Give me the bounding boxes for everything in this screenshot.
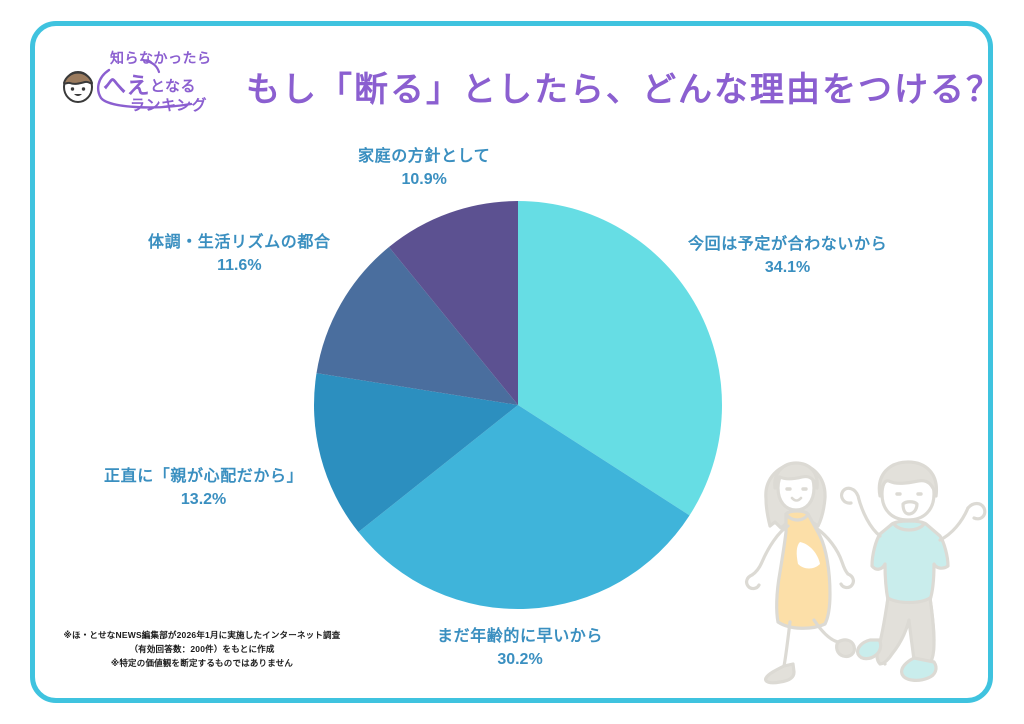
pie-label-2: 正直に「親が心配だから」 13.2% xyxy=(104,466,303,510)
pie-label-3-value: 11.6% xyxy=(148,255,331,276)
pie-chart-svg xyxy=(313,200,723,610)
pie-label-0: 今回は予定が合わないから 34.1% xyxy=(688,234,887,278)
pie-label-3-name: 体調・生活リズムの都合 xyxy=(148,232,331,253)
logo-line-2-small: となる xyxy=(150,78,196,95)
two-kids-jumping-illustration xyxy=(742,444,992,694)
pie-label-2-value: 13.2% xyxy=(104,489,303,510)
logo-line-3: ランキング xyxy=(130,94,207,115)
footnote-line-2: （有効回答数：200件）をもとに作成 xyxy=(52,642,352,656)
footnote: ※ほ・とせなNEWS編集部が2026年1月に実施したインターネット調査 （有効回… xyxy=(52,628,352,670)
pie-label-3: 体調・生活リズムの都合 11.6% xyxy=(148,232,331,276)
pie-label-0-name: 今回は予定が合わないから xyxy=(688,234,887,255)
pie-label-4: 家庭の方針として 10.9% xyxy=(358,146,490,190)
pie-label-1: まだ年齢的に早いから 30.2% xyxy=(437,626,603,670)
pie-label-2-name: 正直に「親が心配だから」 xyxy=(104,466,303,487)
page-title: もし「断る」としたら、どんな理由をつける？ xyxy=(246,62,966,111)
pie-label-4-name: 家庭の方針として xyxy=(358,146,490,167)
pie-label-0-value: 34.1% xyxy=(688,257,887,278)
footnote-line-1: ※ほ・とせなNEWS編集部が2026年1月に実施したインターネット調査 xyxy=(52,628,352,642)
pie-chart xyxy=(313,200,723,610)
brand-logo[interactable]: 知らなかったら へえとなる ランキング xyxy=(55,48,240,116)
infographic-canvas: 知らなかったら へえとなる ランキング もし「断る」としたら、どんな理由をつける… xyxy=(0,0,1024,724)
pie-label-1-name: まだ年齢的に早いから xyxy=(437,626,603,647)
logo-line-1: 知らなかったら xyxy=(110,48,212,68)
logo-wordmark: 知らなかったら へえとなる ランキング xyxy=(101,48,241,116)
pie-label-4-value: 10.9% xyxy=(358,169,490,190)
pie-label-1-value: 30.2% xyxy=(437,649,603,670)
footnote-line-3: ※特定の価値観を断定するものではありません xyxy=(52,656,352,670)
